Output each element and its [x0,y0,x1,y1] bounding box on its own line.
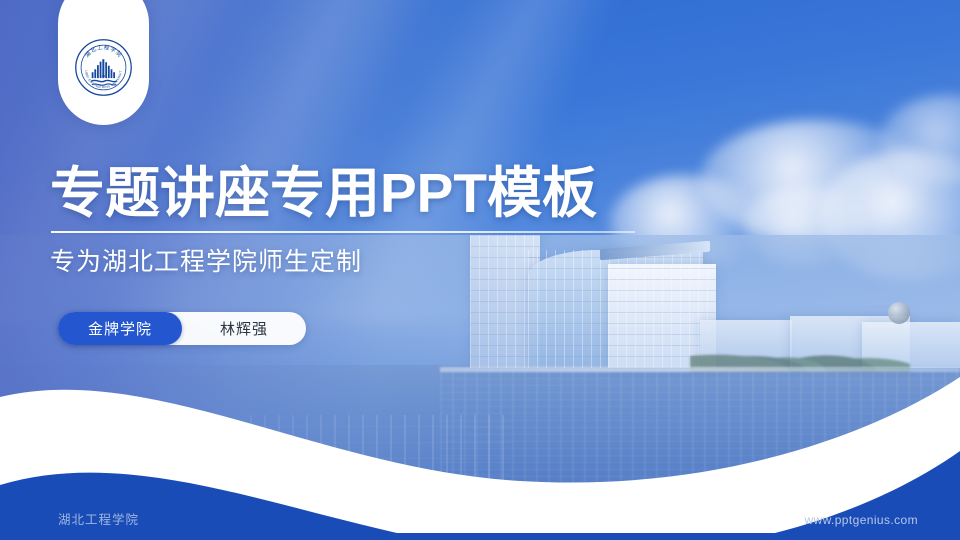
footer-website-url[interactable]: www.pptgenius.com [804,513,918,527]
footer-university-name: 湖北工程学院 [58,509,139,528]
footer-fill [0,533,960,540]
tag-primary-badge[interactable]: 金牌学院 [58,312,182,345]
logo-pill-container: 湖北工程学院 HUBEI ENGINEERING UNIVERSITY [58,0,149,125]
title-divider [51,231,635,233]
page-subtitle: 专为湖北工程学院师生定制 [50,247,362,278]
university-seal-icon: 湖北工程学院 HUBEI ENGINEERING UNIVERSITY [74,38,133,97]
page-title: 专题讲座专用PPT模板 [50,166,597,221]
ppt-cover-slide: 湖北工程学院 HUBEI ENGINEERING UNIVERSITY [0,0,960,540]
tag-presenter-name[interactable]: 林辉强 [182,312,306,345]
svg-text:1943: 1943 [100,74,107,78]
tag-bar: 金牌学院 林辉强 [58,312,306,345]
